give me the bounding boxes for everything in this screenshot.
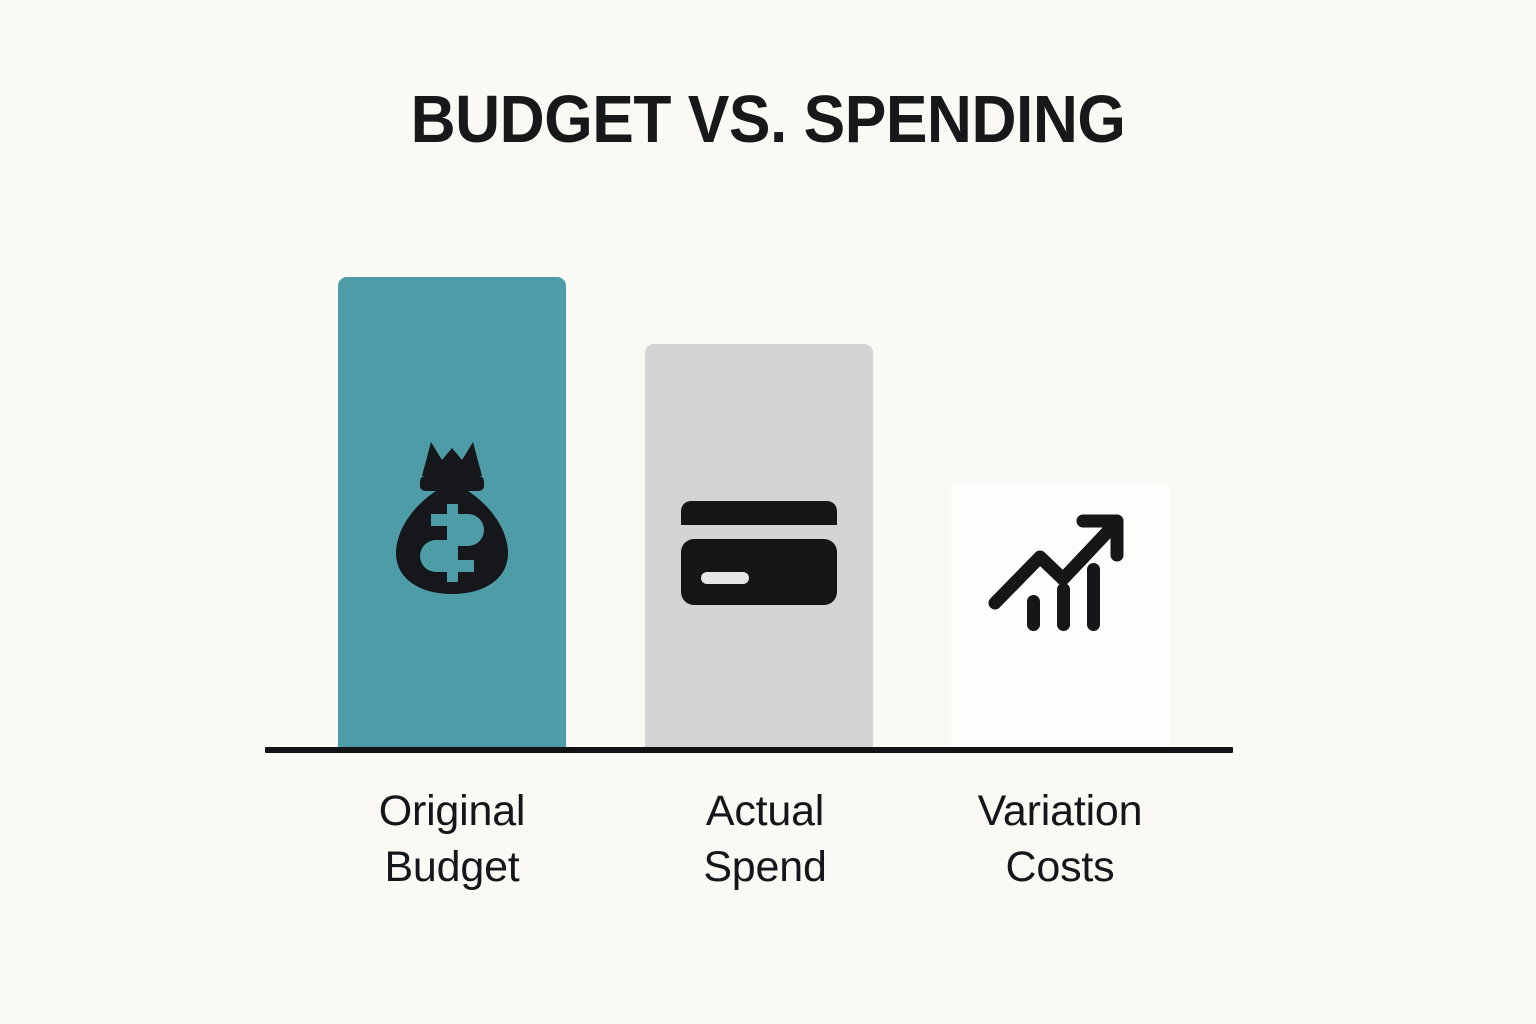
- trending-up-chart-icon: [987, 499, 1135, 636]
- bar-original-budget[interactable]: [338, 277, 566, 751]
- bar-label-line-1: Original: [379, 787, 526, 835]
- bar-label-line-1: Actual: [706, 787, 824, 835]
- bar-actual-spend[interactable]: [645, 344, 873, 751]
- axis-baseline: [265, 747, 1233, 753]
- bar-chart-plot-area: Original Budget Actual Spend Variation C…: [0, 0, 1536, 1024]
- bar-label-line-2: Budget: [302, 839, 602, 895]
- infographic-canvas: BUDGET VS. SPENDING: [0, 0, 1536, 1024]
- bar-variation-costs[interactable]: [951, 482, 1170, 751]
- bar-label-line-2: Spend: [615, 839, 915, 895]
- bar-label-original-budget: Original Budget: [302, 783, 602, 895]
- bar-label-line-2: Costs: [910, 839, 1210, 895]
- bar-label-variation-costs: Variation Costs: [910, 783, 1210, 895]
- credit-card-icon: [681, 495, 837, 614]
- bar-label-line-1: Variation: [978, 787, 1143, 835]
- money-bag-icon: [390, 438, 514, 603]
- bar-label-actual-spend: Actual Spend: [615, 783, 915, 895]
